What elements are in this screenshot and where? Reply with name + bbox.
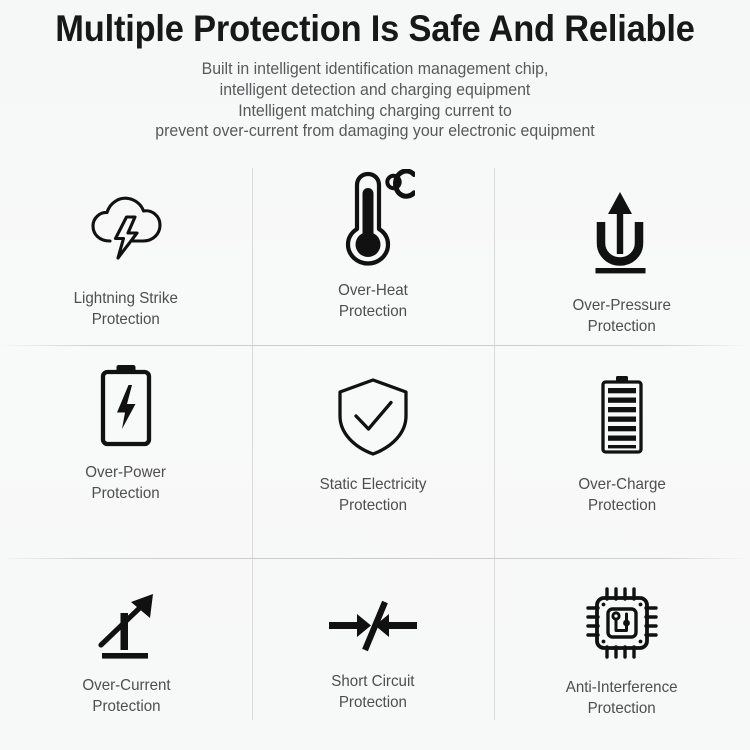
feature-cell-over-heat: Over-Heat Protection bbox=[252, 164, 494, 345]
feature-label-line2: Protection bbox=[86, 484, 167, 505]
feature-label-line2: Protection bbox=[82, 697, 170, 718]
battery-full-bars-icon bbox=[596, 375, 648, 455]
feature-cell-anti-interference: Anti-Interference Protection bbox=[494, 558, 750, 750]
battery-bolt-icon bbox=[96, 363, 156, 447]
feature-cell-over-pressure: Over-Pressure Protection bbox=[494, 164, 750, 345]
feature-label-line2: Protection bbox=[578, 496, 665, 517]
feature-label-over-pressure: Over-Pressure Protection bbox=[573, 296, 671, 337]
feature-cell-over-charge: Over-Charge Protection bbox=[494, 345, 750, 558]
feature-label-over-charge: Over-Charge Protection bbox=[578, 475, 665, 516]
feature-label-line1: Over-Charge bbox=[578, 476, 665, 493]
arrows-slash-icon bbox=[327, 600, 419, 652]
feature-cell-lightning-strike: Lightning Strike Protection bbox=[0, 164, 252, 345]
feature-label-line2: Protection bbox=[320, 496, 427, 517]
feature-label-line2: Protection bbox=[573, 317, 671, 338]
page-subtitle: Built in intelligent identification mana… bbox=[9, 59, 740, 142]
feature-label-line2: Protection bbox=[331, 693, 414, 714]
feature-label-line1: Over-Power bbox=[86, 464, 167, 481]
microchip-icon bbox=[585, 586, 659, 660]
feature-cell-static-electricity: Static Electricity Protection bbox=[252, 345, 494, 558]
shield-check-icon bbox=[335, 377, 411, 457]
feature-grid: Lightning Strike Protection Over-Heat Pr… bbox=[0, 164, 750, 750]
feature-label-line1: Over-Pressure bbox=[573, 297, 671, 314]
subtitle-line-3: Intelligent matching charging current to bbox=[9, 101, 740, 122]
page-header: Multiple Protection Is Safe And Reliable… bbox=[0, 0, 750, 142]
protection-features-page: Multiple Protection Is Safe And Reliable… bbox=[0, 0, 750, 750]
feature-label-line1: Anti-Interference bbox=[566, 679, 678, 696]
cloud-lightning-icon bbox=[85, 194, 167, 274]
feature-label-line1: Static Electricity bbox=[320, 476, 427, 493]
feature-label-line1: Over-Current bbox=[82, 677, 170, 694]
feature-label-line2: Protection bbox=[566, 699, 678, 720]
rising-arrow-baseline-icon bbox=[93, 590, 159, 662]
page-title: Multiple Protection Is Safe And Reliable bbox=[26, 6, 724, 52]
subtitle-line-4: prevent over-current from damaging your … bbox=[9, 121, 740, 142]
feature-label-lightning-strike: Lightning Strike Protection bbox=[74, 289, 178, 330]
feature-cell-over-power: Over-Power Protection bbox=[0, 345, 252, 558]
thermometer-celsius-icon bbox=[331, 169, 415, 267]
feature-label-anti-interference: Anti-Interference Protection bbox=[566, 678, 678, 719]
feature-label-line1: Lightning Strike bbox=[74, 290, 178, 307]
feature-label-over-current: Over-Current Protection bbox=[82, 676, 170, 717]
feature-label-over-heat: Over-Heat Protection bbox=[338, 281, 408, 322]
subtitle-line-2: intelligent detection and charging equip… bbox=[9, 80, 740, 101]
feature-label-line1: Short Circuit bbox=[331, 673, 414, 690]
feature-label-static-electricity: Static Electricity Protection bbox=[320, 475, 427, 516]
feature-label-short-circuit: Short Circuit Protection bbox=[331, 672, 414, 713]
feature-label-line1: Over-Heat bbox=[338, 282, 408, 299]
feature-cell-over-current: Over-Current Protection bbox=[0, 558, 252, 750]
feature-cell-short-circuit: Short Circuit Protection bbox=[252, 558, 494, 750]
u-arrow-up-baseline-icon bbox=[587, 190, 657, 274]
feature-label-line2: Protection bbox=[338, 302, 408, 323]
subtitle-line-1: Built in intelligent identification mana… bbox=[9, 59, 740, 80]
feature-label-line2: Protection bbox=[74, 310, 178, 331]
feature-label-over-power: Over-Power Protection bbox=[86, 463, 167, 504]
